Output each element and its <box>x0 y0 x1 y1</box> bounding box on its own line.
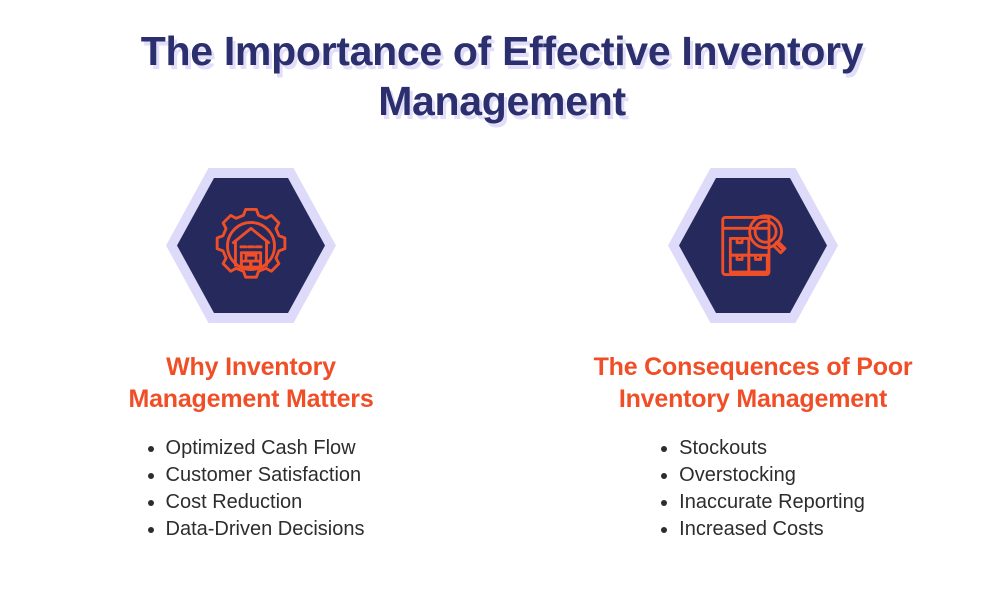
section-heading-right: The Consequences of Poor Inventory Manag… <box>594 351 913 415</box>
list-item: Cost Reduction <box>146 489 365 516</box>
hexagon-inner-left <box>177 178 325 313</box>
consequences-list: Stockouts Overstocking Inaccurate Report… <box>659 435 865 543</box>
page-title: The Importance of Effective Inventory Ma… <box>62 26 942 126</box>
benefits-list: Optimized Cash Flow Customer Satisfactio… <box>146 435 365 543</box>
list-item: Data-Driven Decisions <box>146 516 365 543</box>
page-title-text: The Importance of Effective Inventory Ma… <box>62 26 942 126</box>
hexagon-badge-right <box>668 168 838 323</box>
column-consequences-of-poor-inventory-management: The Consequences of Poor Inventory Manag… <box>502 168 1004 543</box>
list-item: Inaccurate Reporting <box>659 489 865 516</box>
inventory-audit-magnifier-icon <box>711 204 795 288</box>
hexagon-inner-right <box>679 178 827 313</box>
list-item: Customer Satisfaction <box>146 462 365 489</box>
columns-container: Why Inventory Management Matters Optimiz… <box>0 168 1004 543</box>
list-item: Overstocking <box>659 462 865 489</box>
hexagon-badge-left <box>166 168 336 323</box>
gear-warehouse-icon <box>209 204 293 288</box>
infographic-page: The Importance of Effective Inventory Ma… <box>0 0 1004 591</box>
list-item: Increased Costs <box>659 516 865 543</box>
section-heading-left: Why Inventory Management Matters <box>128 351 373 415</box>
list-item: Optimized Cash Flow <box>146 435 365 462</box>
list-item: Stockouts <box>659 435 865 462</box>
column-why-inventory-management-matters: Why Inventory Management Matters Optimiz… <box>0 168 502 543</box>
